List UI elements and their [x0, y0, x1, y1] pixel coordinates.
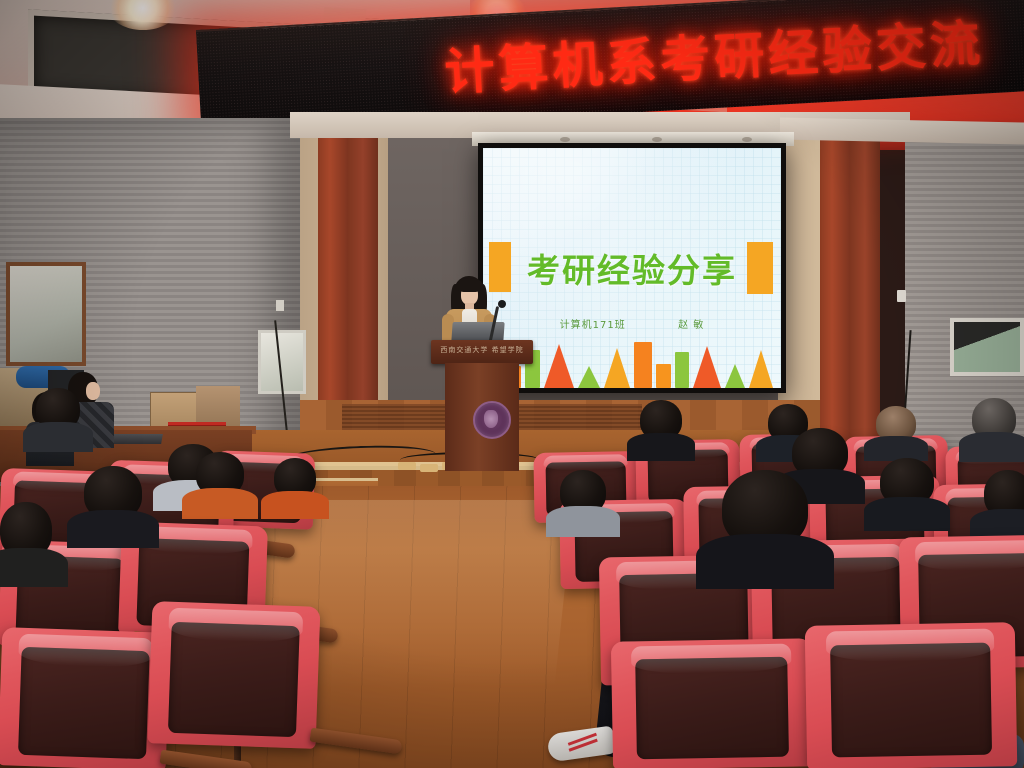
audience-shoulders — [67, 510, 160, 548]
audience-shoulders — [864, 497, 950, 531]
audience-shoulders — [546, 506, 620, 537]
skyline-shape-9 — [675, 352, 689, 388]
auditorium-photo: 计算机系考研经验交流 考研经验分享 计算机171班 赵 敏 — [0, 0, 1024, 768]
audience-head — [84, 466, 142, 520]
audience-head — [0, 502, 52, 558]
audience-shoulders — [696, 534, 834, 589]
skyline-shape-6 — [604, 348, 630, 388]
audience-head — [876, 406, 916, 442]
audience-head — [722, 470, 808, 548]
podium-top: 西南交通大学 希望学院 — [431, 340, 533, 364]
skyline-shape-8 — [656, 364, 671, 388]
skyline-shape-12 — [749, 350, 773, 388]
audience-shoulders — [959, 432, 1024, 461]
audience-head — [972, 398, 1016, 440]
skyline-shape-5 — [578, 366, 600, 388]
wood-block-1 — [398, 462, 416, 470]
audience-head — [880, 458, 934, 506]
audience-head — [640, 400, 682, 440]
audience-shoulders — [23, 422, 93, 451]
window-left — [6, 262, 86, 366]
wall-outlet-left[interactable] — [276, 300, 284, 311]
auditorium-seat[interactable] — [805, 622, 1017, 768]
skyline-shape-11 — [725, 364, 745, 388]
seat-highlight — [915, 540, 1024, 571]
operator-2-face — [86, 382, 100, 400]
audience-shoulders — [627, 433, 694, 461]
rail-screw-3 — [742, 137, 752, 142]
podium-nameplate: 西南交通大学 希望学院 — [431, 345, 533, 355]
wall-outlet-right[interactable] — [897, 290, 906, 302]
audience-shoulders — [261, 491, 328, 519]
window-right — [950, 318, 1024, 376]
skyline-shape-4 — [544, 344, 574, 388]
presenter-fringe — [456, 278, 483, 292]
slide-subtitle-class: 计算机171班 — [560, 320, 626, 331]
auditorium-seat[interactable] — [611, 638, 813, 768]
audience-head — [984, 470, 1024, 518]
auditorium-seat[interactable] — [0, 627, 170, 768]
slide-subtitle-name: 赵 敏 — [678, 320, 704, 331]
wood-block-2 — [420, 464, 438, 472]
skyline-shape-10 — [693, 346, 721, 388]
wood-column-3 — [820, 120, 850, 472]
rail-screw-2 — [652, 137, 662, 142]
microphone-icon[interactable] — [498, 300, 506, 308]
rail-screw-1 — [560, 137, 570, 142]
podium: 西南交通大学 希望学院 — [437, 340, 527, 470]
audience-head — [274, 458, 316, 498]
podium-body — [445, 363, 519, 471]
university-seal-icon — [473, 401, 511, 439]
auditorium-seat[interactable] — [148, 601, 321, 749]
audience-shoulders — [182, 488, 259, 519]
audience-shoulders — [0, 548, 68, 587]
audience-shoulders — [864, 436, 928, 461]
audience-head — [560, 470, 606, 514]
audience-head — [36, 388, 80, 430]
audience-head — [196, 452, 244, 496]
laptop-icon[interactable] — [451, 322, 504, 342]
slide-title: 考研经验分享 — [483, 244, 781, 292]
skyline-shape-7 — [634, 342, 652, 388]
slide-subtitle: 计算机171班 赵 敏 — [483, 316, 781, 331]
seat-highlight — [544, 454, 627, 471]
